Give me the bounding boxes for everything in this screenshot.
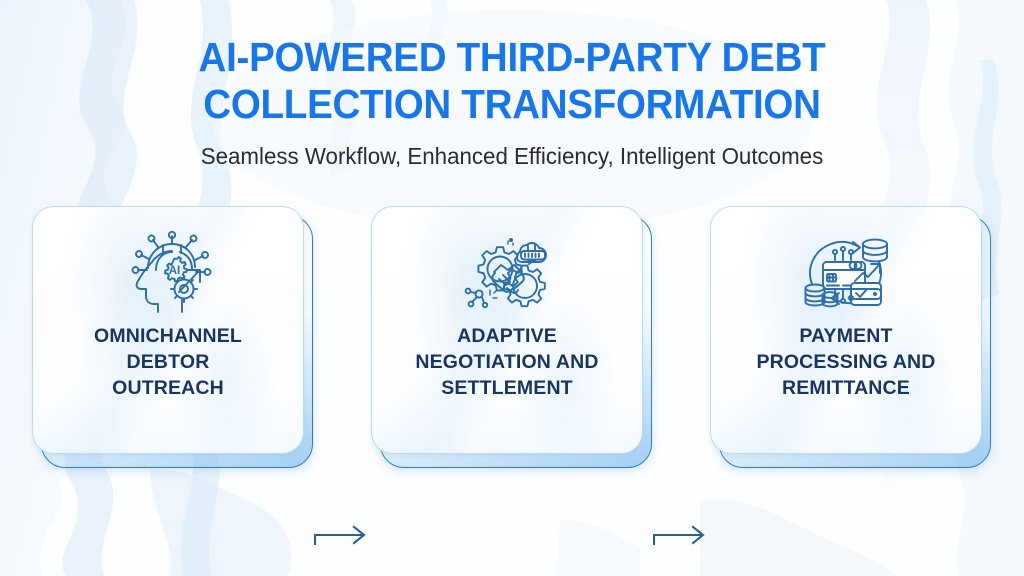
card-slot-omnichannel-debtor-outreach: AI OMNICHANNEL DEBTOR OUTREACH — [32, 206, 313, 468]
svg-text:AI: AI — [169, 265, 181, 277]
card-slot-payment-processing-and-remittance: PAYMENT PROCESSING AND REMITTANCE — [710, 206, 991, 468]
slide-root: AI-POWERED THIRD-PARTY DEBT COLLECTION T… — [0, 0, 1024, 576]
card-adaptive-negotiation-and-settlement[interactable]: ADAPTIVE NEGOTIATION AND SETTLEMENT — [371, 206, 643, 454]
arrow-right-icon — [653, 523, 711, 549]
handshake-gears-brain-icon — [459, 231, 555, 315]
page-title: AI-POWERED THIRD-PARTY DEBT COLLECTION T… — [31, 34, 994, 128]
card-slot-adaptive-negotiation-and-settlement: ADAPTIVE NEGOTIATION AND SETTLEMENT — [371, 206, 652, 468]
payment-card-wallet-coins-icon — [798, 231, 894, 315]
card-payment-processing-and-remittance[interactable]: PAYMENT PROCESSING AND REMITTANCE — [710, 206, 982, 454]
process-cards-row: AI OMNICHANNEL DEBTOR OUTREACH — [0, 206, 1024, 476]
arrow-right-icon — [314, 523, 372, 549]
card-label: OMNICHANNEL DEBTOR OUTREACH — [80, 323, 256, 401]
ai-brain-head-gear-icon: AI — [120, 231, 216, 315]
card-omnichannel-debtor-outreach[interactable]: AI OMNICHANNEL DEBTOR OUTREACH — [32, 206, 304, 454]
slide-header: AI-POWERED THIRD-PARTY DEBT COLLECTION T… — [0, 34, 1024, 170]
page-subtitle: Seamless Workflow, Enhanced Efficiency, … — [15, 142, 1008, 170]
card-label: ADAPTIVE NEGOTIATION AND SETTLEMENT — [401, 323, 612, 401]
card-label: PAYMENT PROCESSING AND REMITTANCE — [742, 323, 949, 401]
